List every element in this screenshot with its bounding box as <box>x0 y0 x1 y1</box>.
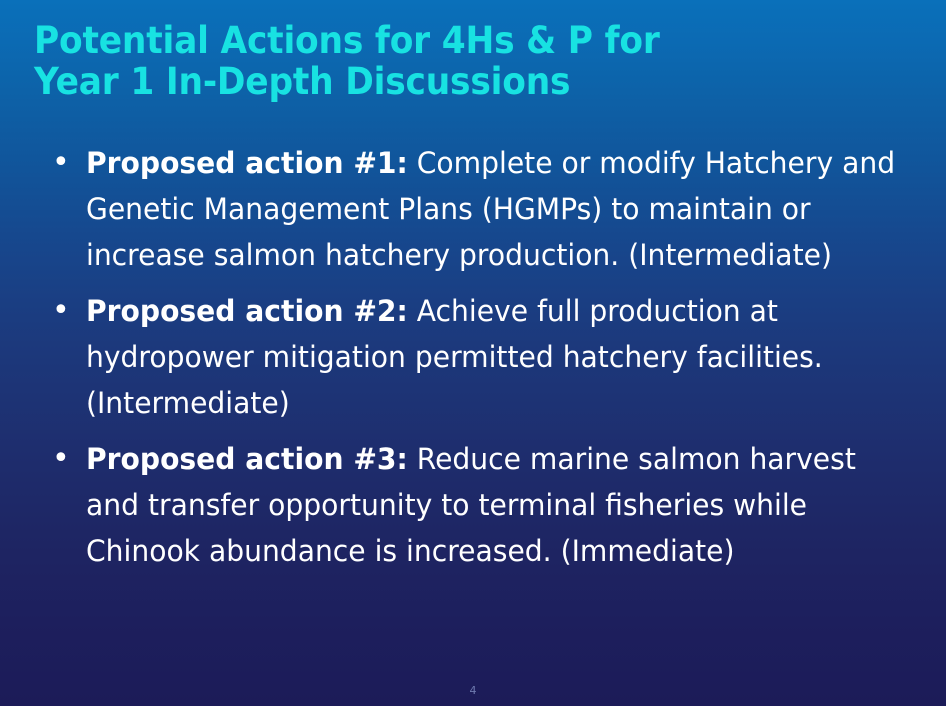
slide-canvas: Potential Actions for 4Hs & P for Year 1… <box>0 0 946 706</box>
bullet-text-3: Proposed action #3: Reduce marine salmon… <box>86 436 903 574</box>
bullet-item-2: • Proposed action #2: Achieve full produ… <box>44 288 942 426</box>
slide-title-line-2: Year 1 In-Depth Discussions <box>34 61 852 102</box>
slide-title-line-1: Potential Actions for 4Hs & P for <box>34 20 852 61</box>
bullet-lead-3: Proposed action #3: <box>86 442 408 476</box>
bullet-item-3: • Proposed action #3: Reduce marine salm… <box>44 436 942 574</box>
bullet-text-1: Proposed action #1: Complete or modify H… <box>86 140 903 278</box>
bullet-lead-2: Proposed action #2: <box>86 294 408 328</box>
bullet-dot-icon: • <box>44 140 86 186</box>
bullet-dot-icon: • <box>44 288 86 334</box>
slide-body: • Proposed action #1: Complete or modify… <box>44 140 942 584</box>
slide-page-number: 4 <box>0 684 946 698</box>
slide-title: Potential Actions for 4Hs & P for Year 1… <box>34 20 914 102</box>
bullet-dot-icon: • <box>44 436 86 482</box>
bullet-lead-1: Proposed action #1: <box>86 146 408 180</box>
bullet-item-1: • Proposed action #1: Complete or modify… <box>44 140 942 278</box>
bullet-text-2: Proposed action #2: Achieve full product… <box>86 288 903 426</box>
